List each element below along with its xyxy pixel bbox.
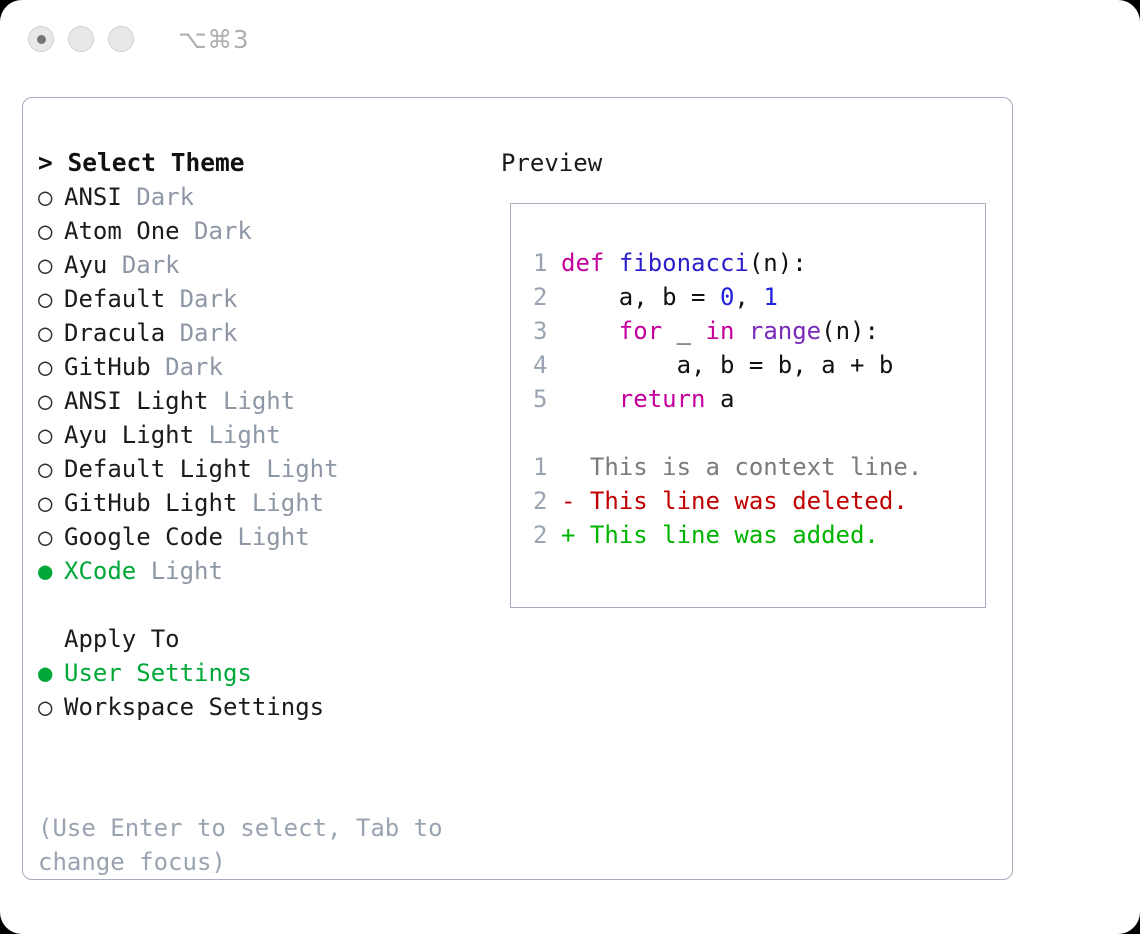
theme-list-item[interactable]: ○ANSI Light Light [38,384,478,418]
code-token: (n): [821,317,879,345]
theme-list-item[interactable]: ○GitHub Light Light [38,486,478,520]
code-token: 0 [720,283,734,311]
theme-name: Ayu [64,251,107,279]
radio-unselected-icon[interactable]: ○ [38,418,64,452]
theme-name: Default Light [64,455,252,483]
theme-variant-label: Dark [194,217,252,245]
list-gap [38,588,478,622]
theme-list-item[interactable]: ○GitHub Dark [38,350,478,384]
line-number: 1 [533,450,561,484]
diff-line: 2+ This line was added. [533,518,973,552]
theme-name: Atom One [64,217,180,245]
code-line: 2 a, b = 0, 1 [533,280,973,314]
code-token: for [619,317,662,345]
radio-unselected-icon[interactable]: ○ [38,520,64,554]
code-token [604,249,618,277]
apply-to-item[interactable]: ○Workspace Settings [38,690,478,724]
theme-name: GitHub [64,353,151,381]
code-token: fibonacci [619,249,749,277]
theme-variant-label: Dark [136,183,194,211]
code-preview-area: 1def fibonacci(n):2 a, b = 0, 13 for _ i… [533,246,973,552]
apply-to-list: ●User Settings○Workspace Settings [38,656,478,724]
main-panel: > Select Theme ○ANSI Dark○Atom One Dark○… [22,97,1013,880]
theme-name: XCode [64,557,136,585]
apply-to-label: Workspace Settings [64,693,324,721]
theme-variant-label: Light [223,387,295,415]
theme-selector-column: > Select Theme ○ANSI Dark○Atom One Dark○… [38,146,478,724]
theme-list-item[interactable]: ○Dracula Dark [38,316,478,350]
radio-unselected-icon[interactable]: ○ [38,282,64,316]
radio-unselected-icon[interactable]: ○ [38,316,64,350]
select-theme-header: > Select Theme [38,146,478,180]
code-token: , [734,283,763,311]
code-token [561,385,619,413]
theme-name: Google Code [64,523,223,551]
radio-unselected-icon[interactable]: ○ [38,214,64,248]
theme-list-item[interactable]: ○Default Dark [38,282,478,316]
theme-list-item[interactable]: ○ANSI Dark [38,180,478,214]
window-dot-active-indicator [37,35,46,44]
theme-name: Dracula [64,319,165,347]
theme-list-item[interactable]: ○Atom One Dark [38,214,478,248]
code-token: return [619,385,706,413]
theme-variant-label: Light [252,489,324,517]
line-number: 2 [533,280,561,314]
code-token: def [561,249,604,277]
line-number: 1 [533,246,561,280]
theme-variant-label: Dark [122,251,180,279]
theme-name: Default [64,285,165,313]
radio-unselected-icon[interactable]: ○ [38,486,64,520]
theme-variant-label: Dark [165,353,223,381]
radio-unselected-icon[interactable]: ○ [38,248,64,282]
line-number: 4 [533,348,561,382]
theme-variant-label: Dark [180,319,238,347]
hint-text: (Use Enter to select, Tab to change focu… [38,811,468,879]
code-token: a [706,385,735,413]
theme-variant-label: Light [209,421,281,449]
theme-name: ANSI Light [64,387,209,415]
theme-name: ANSI [64,183,122,211]
line-number: 5 [533,382,561,416]
theme-name: Ayu Light [64,421,194,449]
theme-variant-label: Light [237,523,309,551]
diff-sample: 1 This is a context line.2- This line wa… [533,450,973,552]
hint-line-2: change focus) [38,845,468,879]
diff-text: - This line was deleted. [561,487,908,515]
preview-box: 1def fibonacci(n):2 a, b = 0, 13 for _ i… [510,203,986,608]
code-token: a, b = [561,283,720,311]
code-sample: 1def fibonacci(n):2 a, b = 0, 13 for _ i… [533,246,973,416]
diff-line: 2- This line was deleted. [533,484,973,518]
code-line: 3 for _ in range(n): [533,314,973,348]
theme-list-item[interactable]: ○Default Light Light [38,452,478,486]
hint-line-1: (Use Enter to select, Tab to [38,811,468,845]
diff-line: 1 This is a context line. [533,450,973,484]
radio-unselected-icon[interactable]: ○ [38,180,64,214]
theme-list-item[interactable]: ○Ayu Dark [38,248,478,282]
code-diff-gap [533,416,973,450]
keyboard-shortcut-label: ⌥⌘3 [178,25,249,54]
diff-text: + This line was added. [561,521,879,549]
code-line: 5 return a [533,382,973,416]
window-dot-active[interactable] [28,26,54,52]
diff-text: This is a context line. [561,453,922,481]
code-token: in [706,317,735,345]
theme-list-item[interactable]: ○Ayu Light Light [38,418,478,452]
code-token: 1 [763,283,777,311]
code-token: (n): [749,249,807,277]
code-token: _ [662,317,705,345]
theme-list-item[interactable]: ○Google Code Light [38,520,478,554]
radio-unselected-icon[interactable]: ○ [38,384,64,418]
radio-selected-icon[interactable]: ● [38,554,64,588]
code-line: 4 a, b = b, a + b [533,348,973,382]
apply-to-header-label: Apply To [64,625,180,653]
title-bar: ⌥⌘3 [0,0,1140,78]
window-dot-2[interactable] [68,26,94,52]
code-token: range [749,317,821,345]
theme-variant-label: Light [266,455,338,483]
radio-selected-icon[interactable]: ● [38,656,64,690]
apply-to-header: ○Apply To [38,622,478,656]
apply-to-header-indent: ○ [38,622,64,656]
preview-column: Preview [501,146,1001,180]
line-number: 2 [533,518,561,552]
theme-variant-label: Dark [180,285,238,313]
theme-variant-label: Light [151,557,223,585]
app-window: ⌥⌘3 > Select Theme ○ANSI Dark○Atom One D… [0,0,1140,934]
line-number: 2 [533,484,561,518]
radio-unselected-icon[interactable]: ○ [38,350,64,384]
radio-unselected-icon[interactable]: ○ [38,452,64,486]
window-dot-3[interactable] [108,26,134,52]
code-token: a, b = b, a + b [561,351,893,379]
theme-name: GitHub Light [64,489,237,517]
apply-to-label: User Settings [64,659,252,687]
radio-unselected-icon[interactable]: ○ [38,690,64,724]
preview-title: Preview [501,146,1001,180]
theme-list: ○ANSI Dark○Atom One Dark○Ayu Dark○Defaul… [38,180,478,588]
apply-to-item[interactable]: ●User Settings [38,656,478,690]
line-number: 3 [533,314,561,348]
code-token [734,317,748,345]
code-line: 1def fibonacci(n): [533,246,973,280]
theme-list-item[interactable]: ●XCode Light [38,554,478,588]
code-token [561,317,619,345]
